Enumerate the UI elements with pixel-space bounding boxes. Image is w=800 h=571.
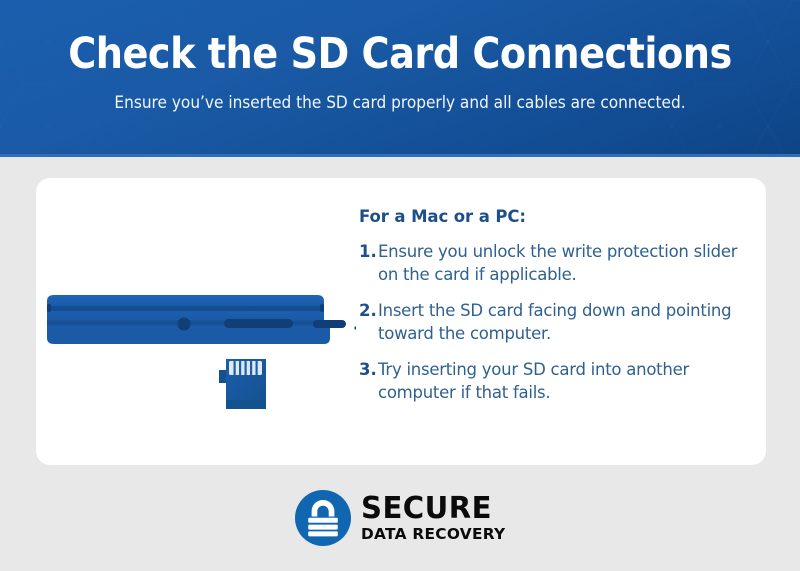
page-footer: SECURE DATA RECOVERY (0, 480, 800, 556)
laptop-left-edge-detail (47, 304, 51, 312)
instruction-step-number: 3. (359, 358, 378, 381)
instructions-panel: For a Mac or a PC: 1. Ensure you unlock … (359, 207, 749, 417)
secure-data-recovery-logo[interactable]: SECURE DATA RECOVERY (294, 489, 507, 547)
logo-primary-text: SECURE (361, 494, 502, 523)
instructions-heading: For a Mac or a PC: (359, 207, 749, 226)
laptop-right-corner (288, 328, 330, 344)
padlock-icon (294, 489, 352, 547)
header-text-block: Check the SD Card Connections Ensure you… (0, 0, 800, 112)
instruction-step-number: 2. (359, 299, 378, 322)
logo-text-block: SECURE DATA RECOVERY (361, 494, 507, 542)
page-title: Check the SD Card Connections (44, 33, 756, 76)
page-subtitle: Ensure you’ve inserted the SD card prope… (28, 76, 772, 112)
usb-port (313, 320, 346, 328)
sd-card-bottom-edge (226, 400, 266, 409)
laptop-hinge-seam (47, 306, 324, 311)
instruction-step: 2. Insert the SD card facing down and po… (359, 299, 749, 345)
sd-card-slot-port (224, 319, 293, 328)
sd-card-graphic (219, 359, 266, 409)
instruction-step-text: Try inserting your SD card into another … (378, 358, 749, 404)
instruction-step: 1. Ensure you unlock the write protectio… (359, 240, 749, 286)
instruction-step-text: Insert the SD card facing down and point… (378, 299, 749, 345)
page-header: Check the SD Card Connections Ensure you… (0, 0, 800, 157)
content-card: For a Mac or a PC: 1. Ensure you unlock … (36, 178, 766, 465)
instruction-step: 3. Try inserting your SD card into anoth… (359, 358, 749, 404)
logo-secondary-text: DATA RECOVERY (361, 524, 505, 542)
instruction-step-number: 1. (359, 240, 378, 263)
sd-card-write-protect-notch (219, 370, 226, 383)
instruction-step-text: Ensure you unlock the write protection s… (378, 240, 749, 286)
indicator-dot-icon (354, 326, 356, 329)
laptop-side-view-with-sd-card-illustration (36, 178, 356, 465)
header-bottom-edge (0, 154, 800, 157)
laptop-right-edge-detail (320, 304, 324, 312)
audio-jack-port (178, 318, 191, 331)
